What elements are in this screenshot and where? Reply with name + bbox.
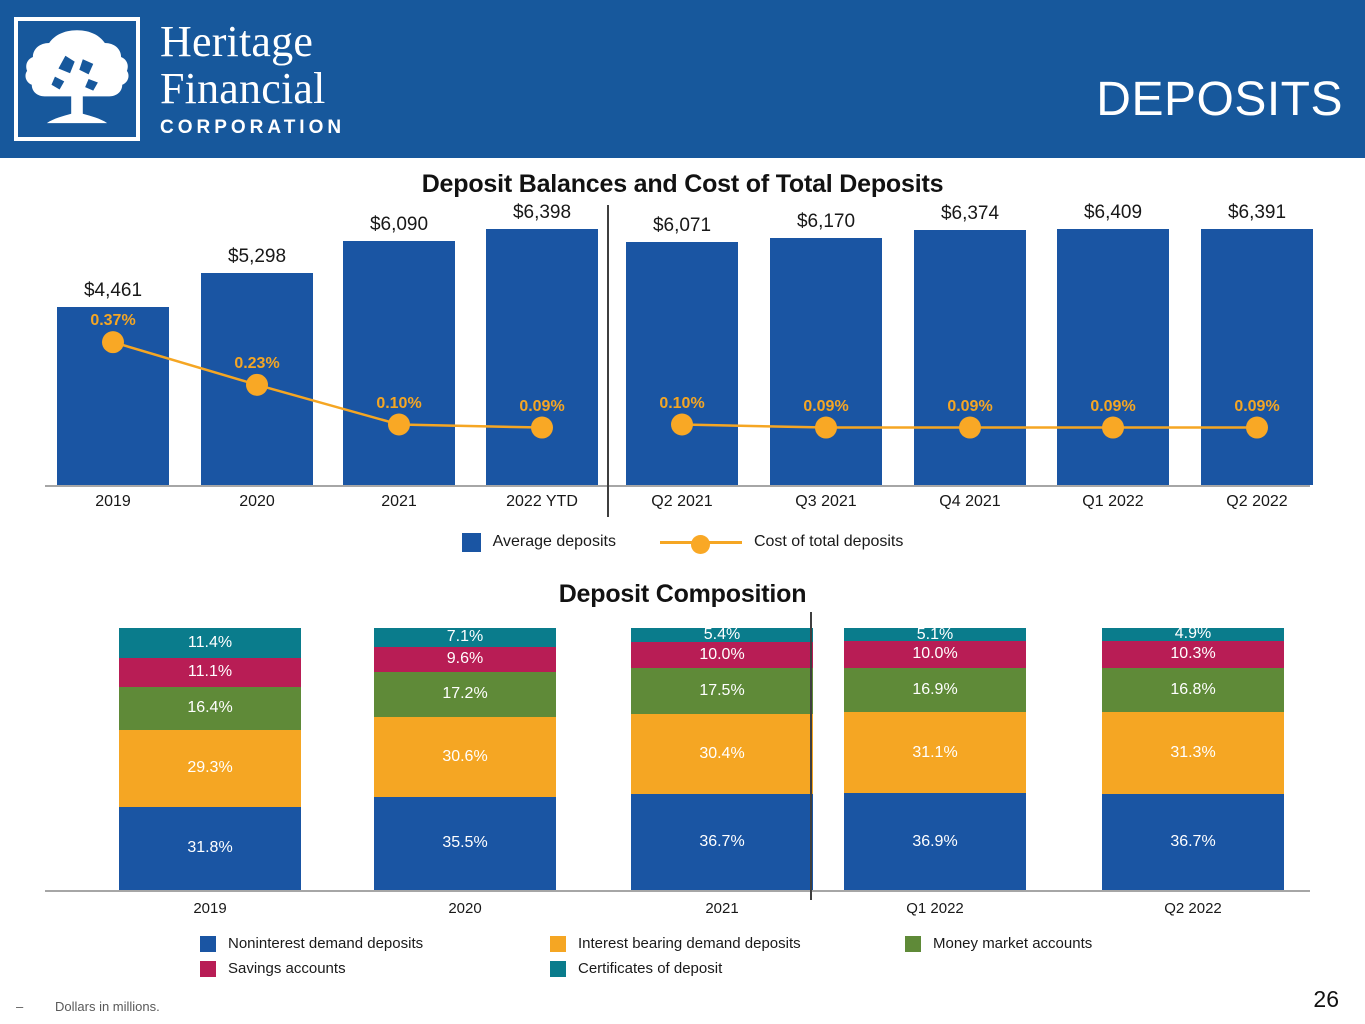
legend-swatch-icon <box>905 936 921 952</box>
stack-segment: 16.8% <box>1102 668 1284 712</box>
x-axis-line <box>45 485 1310 487</box>
x-axis-label: 2022 YTD <box>467 493 617 511</box>
stack-segment: 29.3% <box>119 730 301 807</box>
stack-segment: 30.4% <box>631 714 813 794</box>
stacked-bar: 7.1%9.6%17.2%30.6%35.5% <box>374 628 556 890</box>
line-marker <box>246 374 268 396</box>
footnote-text: Dollars in millions. <box>55 999 160 1014</box>
stack-segment: 4.9% <box>1102 628 1284 641</box>
stack-segment: 16.4% <box>119 687 301 730</box>
period-divider <box>607 205 609 517</box>
line-marker <box>388 414 410 436</box>
stack-segment: 36.9% <box>844 793 1026 890</box>
stacked-bar: 4.9%10.3%16.8%31.3%36.7% <box>1102 628 1284 890</box>
x-axis-label: Q2 2022 <box>1182 493 1332 511</box>
legend-swatch-icon <box>200 936 216 952</box>
stack-segment: 9.6% <box>374 647 556 672</box>
stack-segment: 30.6% <box>374 717 556 797</box>
x-axis-label: Q3 2021 <box>751 493 901 511</box>
stack-segment: 10.3% <box>1102 641 1284 668</box>
footnote-dash: – <box>16 999 23 1014</box>
legend-item: Certificates of deposit <box>550 960 905 977</box>
x-axis-label: 2019 <box>38 493 188 511</box>
line-marker <box>671 414 693 436</box>
legend-item: Interest bearing demand deposits <box>550 935 905 952</box>
stacked-bar: 5.1%10.0%16.9%31.1%36.9% <box>844 628 1026 890</box>
stack-segment: 36.7% <box>1102 794 1284 890</box>
period-divider <box>810 612 812 900</box>
chart-title-deposit-composition: Deposit Composition <box>0 580 1365 609</box>
legend-item: Noninterest demand deposits <box>200 935 550 952</box>
legend-label: Noninterest demand deposits <box>228 935 423 952</box>
stack-segment: 5.1% <box>844 628 1026 641</box>
x-axis-label: Q1 2022 <box>1038 493 1188 511</box>
line-marker <box>815 417 837 439</box>
x-axis-label: Q2 2021 <box>607 493 757 511</box>
legend-deposit-composition: Noninterest demand depositsInterest bear… <box>200 935 1200 977</box>
stack-segment: 17.2% <box>374 672 556 717</box>
legend-item: Average deposits <box>462 533 616 552</box>
legend-label: Interest bearing demand deposits <box>578 935 801 952</box>
page-number: 26 <box>1313 986 1339 1013</box>
stack-segment: 31.8% <box>119 807 301 890</box>
chart-deposit-balances: $4,4610.37%$5,2980.23%$6,0900.10%$6,3980… <box>45 205 1310 525</box>
legend-swatch-icon <box>550 961 566 977</box>
legend-item: Cost of total deposits <box>660 532 903 552</box>
line-marker <box>102 331 124 353</box>
stack-segment: 16.9% <box>844 668 1026 712</box>
stack-segment: 10.0% <box>631 642 813 668</box>
x-axis-label: Q1 2022 <box>825 900 1045 917</box>
x-axis-label: 2020 <box>355 900 575 917</box>
stack-segment: 7.1% <box>374 628 556 647</box>
tree-logo-icon <box>14 17 140 141</box>
stack-segment: 31.3% <box>1102 712 1284 794</box>
x-axis-line <box>45 890 1310 892</box>
line-marker <box>1246 417 1268 439</box>
legend-label: Average deposits <box>493 533 616 551</box>
x-axis-label: 2021 <box>612 900 832 917</box>
legend-deposit-balances: Average depositsCost of total deposits <box>0 532 1365 552</box>
stack-segment: 17.5% <box>631 668 813 714</box>
page-title: DEPOSITS <box>1096 72 1343 127</box>
slide-deposits: Heritage Financial CORPORATION DEPOSITS … <box>0 0 1365 1024</box>
stack-segment: 36.7% <box>631 794 813 890</box>
legend-label: Cost of total deposits <box>754 533 903 551</box>
brand-wordmark: Heritage Financial CORPORATION <box>160 18 345 139</box>
slide-header: Heritage Financial CORPORATION DEPOSITS <box>0 0 1365 158</box>
legend-swatch-icon <box>550 936 566 952</box>
line-marker <box>1102 417 1124 439</box>
legend-label: Certificates of deposit <box>578 960 722 977</box>
legend-label: Savings accounts <box>228 960 346 977</box>
legend-swatch-icon <box>200 961 216 977</box>
stack-segment: 10.0% <box>844 641 1026 667</box>
x-axis-label: Q4 2021 <box>895 493 1045 511</box>
stack-segment: 35.5% <box>374 797 556 890</box>
legend-item: Money market accounts <box>905 935 1205 952</box>
stack-segment: 11.4% <box>119 628 301 658</box>
brand-line-3: CORPORATION <box>160 117 345 139</box>
legend-label: Money market accounts <box>933 935 1092 952</box>
x-axis-label: Q2 2022 <box>1083 900 1303 917</box>
stacked-bar: 11.4%11.1%16.4%29.3%31.8% <box>119 628 301 890</box>
chart-deposit-composition: 11.4%11.1%16.4%29.3%31.8%7.1%9.6%17.2%30… <box>45 620 1310 920</box>
x-axis-label: 2021 <box>324 493 474 511</box>
stack-segment: 5.4% <box>631 628 813 642</box>
line-marker <box>531 417 553 439</box>
stack-segment: 11.1% <box>119 658 301 687</box>
x-axis-label: 2020 <box>182 493 332 511</box>
chart-title-deposit-balances: Deposit Balances and Cost of Total Depos… <box>0 170 1365 199</box>
legend-item: Savings accounts <box>200 960 550 977</box>
stack-segment: 31.1% <box>844 712 1026 793</box>
line-series-cost-of-total-deposits <box>45 205 1310 485</box>
legend-swatch-icon <box>462 533 481 552</box>
x-axis-label: 2019 <box>100 900 320 917</box>
legend-line-marker-icon <box>660 532 742 552</box>
stacked-bar: 5.4%10.0%17.5%30.4%36.7% <box>631 628 813 890</box>
line-marker <box>959 417 981 439</box>
brand-line-2: Financial <box>160 65 345 112</box>
brand-line-1: Heritage <box>160 18 345 65</box>
